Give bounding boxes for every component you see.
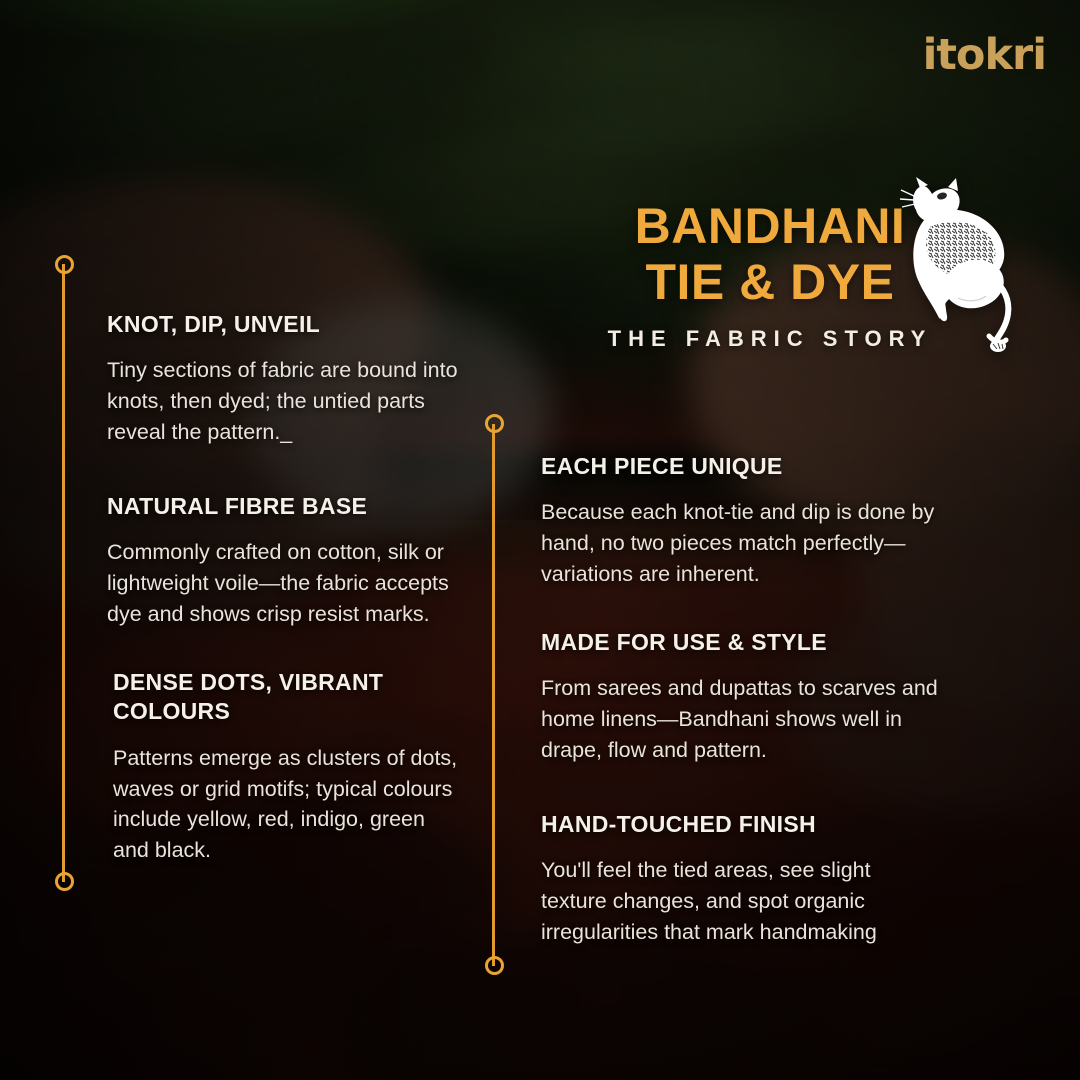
right-timeline-rail: [492, 424, 495, 966]
left-block-3-heading: DENSE DOTS, VIBRANT COLOURS: [113, 668, 465, 727]
left-rail-node-bottom: [55, 872, 74, 891]
cat-illustration-icon: [898, 176, 1026, 356]
right-rail-node-bottom: [485, 956, 504, 975]
right-block-3: HAND-TOUCHED FINISH You'll feel the tied…: [541, 810, 941, 948]
left-block-1: KNOT, DIP, UNVEIL Tiny sections of fabri…: [107, 310, 467, 448]
right-block-1: EACH PIECE UNIQUE Because each knot-tie …: [541, 452, 941, 590]
brand-logo[interactable]: itokri: [923, 34, 1046, 77]
right-block-1-heading: EACH PIECE UNIQUE: [541, 452, 941, 481]
left-rail-node-top: [55, 255, 74, 274]
left-block-1-body: Tiny sections of fabric are bound into k…: [107, 355, 467, 447]
left-block-3: DENSE DOTS, VIBRANT COLOURS Patterns eme…: [113, 668, 465, 866]
left-block-1-heading: KNOT, DIP, UNVEIL: [107, 310, 467, 339]
left-block-3-body: Patterns emerge as clusters of dots, wav…: [113, 743, 465, 866]
infographic-poster: itokri BANDHANI TIE & DYE THE FABRIC STO…: [0, 0, 1080, 1080]
right-block-3-body: You'll feel the tied areas, see slight t…: [541, 855, 941, 947]
right-block-2-heading: MADE FOR USE & STYLE: [541, 628, 941, 657]
right-rail-node-top: [485, 414, 504, 433]
right-block-2-body: From sarees and dupattas to scarves and …: [541, 673, 941, 765]
right-block-1-body: Because each knot-tie and dip is done by…: [541, 497, 941, 589]
right-block-3-heading: HAND-TOUCHED FINISH: [541, 810, 941, 839]
left-timeline-rail: [62, 264, 65, 882]
left-block-2: NATURAL FIBRE BASE Commonly crafted on c…: [107, 492, 467, 630]
left-block-2-body: Commonly crafted on cotton, silk or ligh…: [107, 537, 467, 629]
right-block-2: MADE FOR USE & STYLE From sarees and dup…: [541, 628, 941, 766]
left-block-2-heading: NATURAL FIBRE BASE: [107, 492, 467, 521]
